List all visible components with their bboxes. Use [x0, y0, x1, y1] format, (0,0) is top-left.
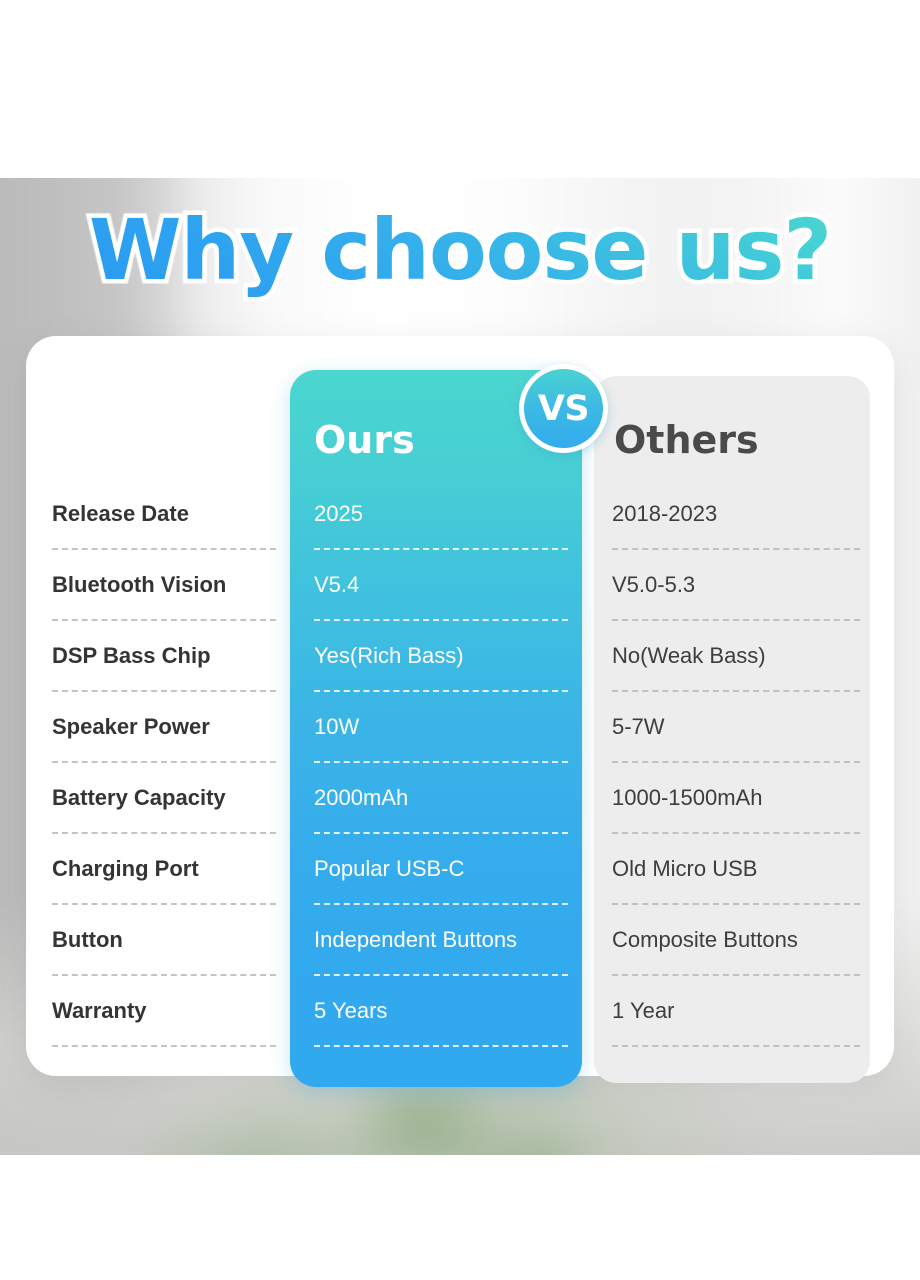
- ours-value-text: 2025: [314, 501, 363, 527]
- ours-value-cell: Yes(Rich Bass): [314, 635, 568, 706]
- table-row: Bluetooth VisionV5.4V5.0-5.3: [0, 564, 920, 635]
- row-divider: [52, 548, 276, 550]
- row-divider: [52, 1045, 276, 1047]
- ours-value-text: 10W: [314, 714, 359, 740]
- ours-value-cell: 10W: [314, 706, 568, 777]
- feature-label-cell: Charging Port: [52, 848, 276, 919]
- table-row: Battery Capacity2000mAh1000-1500mAh: [0, 777, 920, 848]
- row-divider: [314, 903, 568, 905]
- others-value-text: V5.0-5.3: [612, 572, 695, 598]
- others-value-cell: 1000-1500mAh: [612, 777, 860, 848]
- page-title-text: Why choose us?: [89, 201, 831, 299]
- others-value-cell: Old Micro USB: [612, 848, 860, 919]
- ours-value-cell: Popular USB-C: [314, 848, 568, 919]
- table-row: Release Date20252018-2023: [0, 493, 920, 564]
- row-divider: [52, 690, 276, 692]
- row-divider: [612, 761, 860, 763]
- table-row: Speaker Power10W5-7W: [0, 706, 920, 777]
- row-divider: [612, 619, 860, 621]
- feature-label-cell: DSP Bass Chip: [52, 635, 276, 706]
- ours-column-header: Ours: [314, 418, 415, 462]
- feature-label-text: Release Date: [52, 501, 189, 527]
- table-row: Charging PortPopular USB-COld Micro USB: [0, 848, 920, 919]
- feature-label-text: Charging Port: [52, 856, 199, 882]
- feature-label-cell: Bluetooth Vision: [52, 564, 276, 635]
- feature-label-cell: Release Date: [52, 493, 276, 564]
- feature-label-text: DSP Bass Chip: [52, 643, 211, 669]
- feature-label-text: Bluetooth Vision: [52, 572, 226, 598]
- row-divider: [612, 1045, 860, 1047]
- ours-value-text: Yes(Rich Bass): [314, 643, 464, 669]
- ours-value-text: 2000mAh: [314, 785, 408, 811]
- row-divider: [52, 974, 276, 976]
- row-divider: [52, 903, 276, 905]
- ours-value-text: V5.4: [314, 572, 359, 598]
- row-divider: [612, 903, 860, 905]
- vs-badge: VS: [519, 364, 608, 453]
- ours-value-text: 5 Years: [314, 998, 387, 1024]
- comparison-rows: Release Date20252018-2023Bluetooth Visio…: [0, 493, 920, 1061]
- table-row: Warranty5 Years1 Year: [0, 990, 920, 1061]
- row-divider: [314, 832, 568, 834]
- ours-value-text: Popular USB-C: [314, 856, 464, 882]
- table-row: ButtonIndependent ButtonsComposite Butto…: [0, 919, 920, 990]
- feature-label-cell: Speaker Power: [52, 706, 276, 777]
- feature-label-text: Speaker Power: [52, 714, 210, 740]
- feature-label-cell: Warranty: [52, 990, 276, 1061]
- row-divider: [314, 761, 568, 763]
- others-value-cell: 5-7W: [612, 706, 860, 777]
- row-divider: [612, 548, 860, 550]
- feature-label-cell: Battery Capacity: [52, 777, 276, 848]
- ours-value-cell: 2025: [314, 493, 568, 564]
- others-value-cell: Composite Buttons: [612, 919, 860, 990]
- others-value-text: 2018-2023: [612, 501, 717, 527]
- row-divider: [612, 974, 860, 976]
- row-divider: [52, 619, 276, 621]
- feature-label-cell: Button: [52, 919, 276, 990]
- ours-value-text: Independent Buttons: [314, 927, 517, 953]
- table-row: DSP Bass ChipYes(Rich Bass)No(Weak Bass): [0, 635, 920, 706]
- others-value-text: Old Micro USB: [612, 856, 757, 882]
- ours-value-cell: Independent Buttons: [314, 919, 568, 990]
- row-divider: [314, 548, 568, 550]
- others-value-text: 5-7W: [612, 714, 665, 740]
- others-value-text: 1 Year: [612, 998, 674, 1024]
- row-divider: [314, 619, 568, 621]
- row-divider: [314, 690, 568, 692]
- others-value-cell: 1 Year: [612, 990, 860, 1061]
- ours-value-cell: V5.4: [314, 564, 568, 635]
- others-value-text: 1000-1500mAh: [612, 785, 762, 811]
- ours-value-cell: 5 Years: [314, 990, 568, 1061]
- others-value-cell: 2018-2023: [612, 493, 860, 564]
- ours-value-cell: 2000mAh: [314, 777, 568, 848]
- feature-label-text: Button: [52, 927, 123, 953]
- others-value-text: Composite Buttons: [612, 927, 798, 953]
- row-divider: [314, 1045, 568, 1047]
- vs-badge-label: VS: [538, 389, 589, 429]
- others-value-text: No(Weak Bass): [612, 643, 766, 669]
- others-column-header: Others: [614, 418, 759, 462]
- row-divider: [612, 832, 860, 834]
- row-divider: [314, 974, 568, 976]
- others-value-cell: V5.0-5.3: [612, 564, 860, 635]
- row-divider: [612, 690, 860, 692]
- feature-label-text: Warranty: [52, 998, 147, 1024]
- comparison-infographic: Why choose us? Why choose us? VS Ours Ot…: [0, 0, 920, 1280]
- row-divider: [52, 761, 276, 763]
- row-divider: [52, 832, 276, 834]
- others-value-cell: No(Weak Bass): [612, 635, 860, 706]
- page-title: Why choose us? Why choose us?: [0, 206, 920, 294]
- feature-label-text: Battery Capacity: [52, 785, 226, 811]
